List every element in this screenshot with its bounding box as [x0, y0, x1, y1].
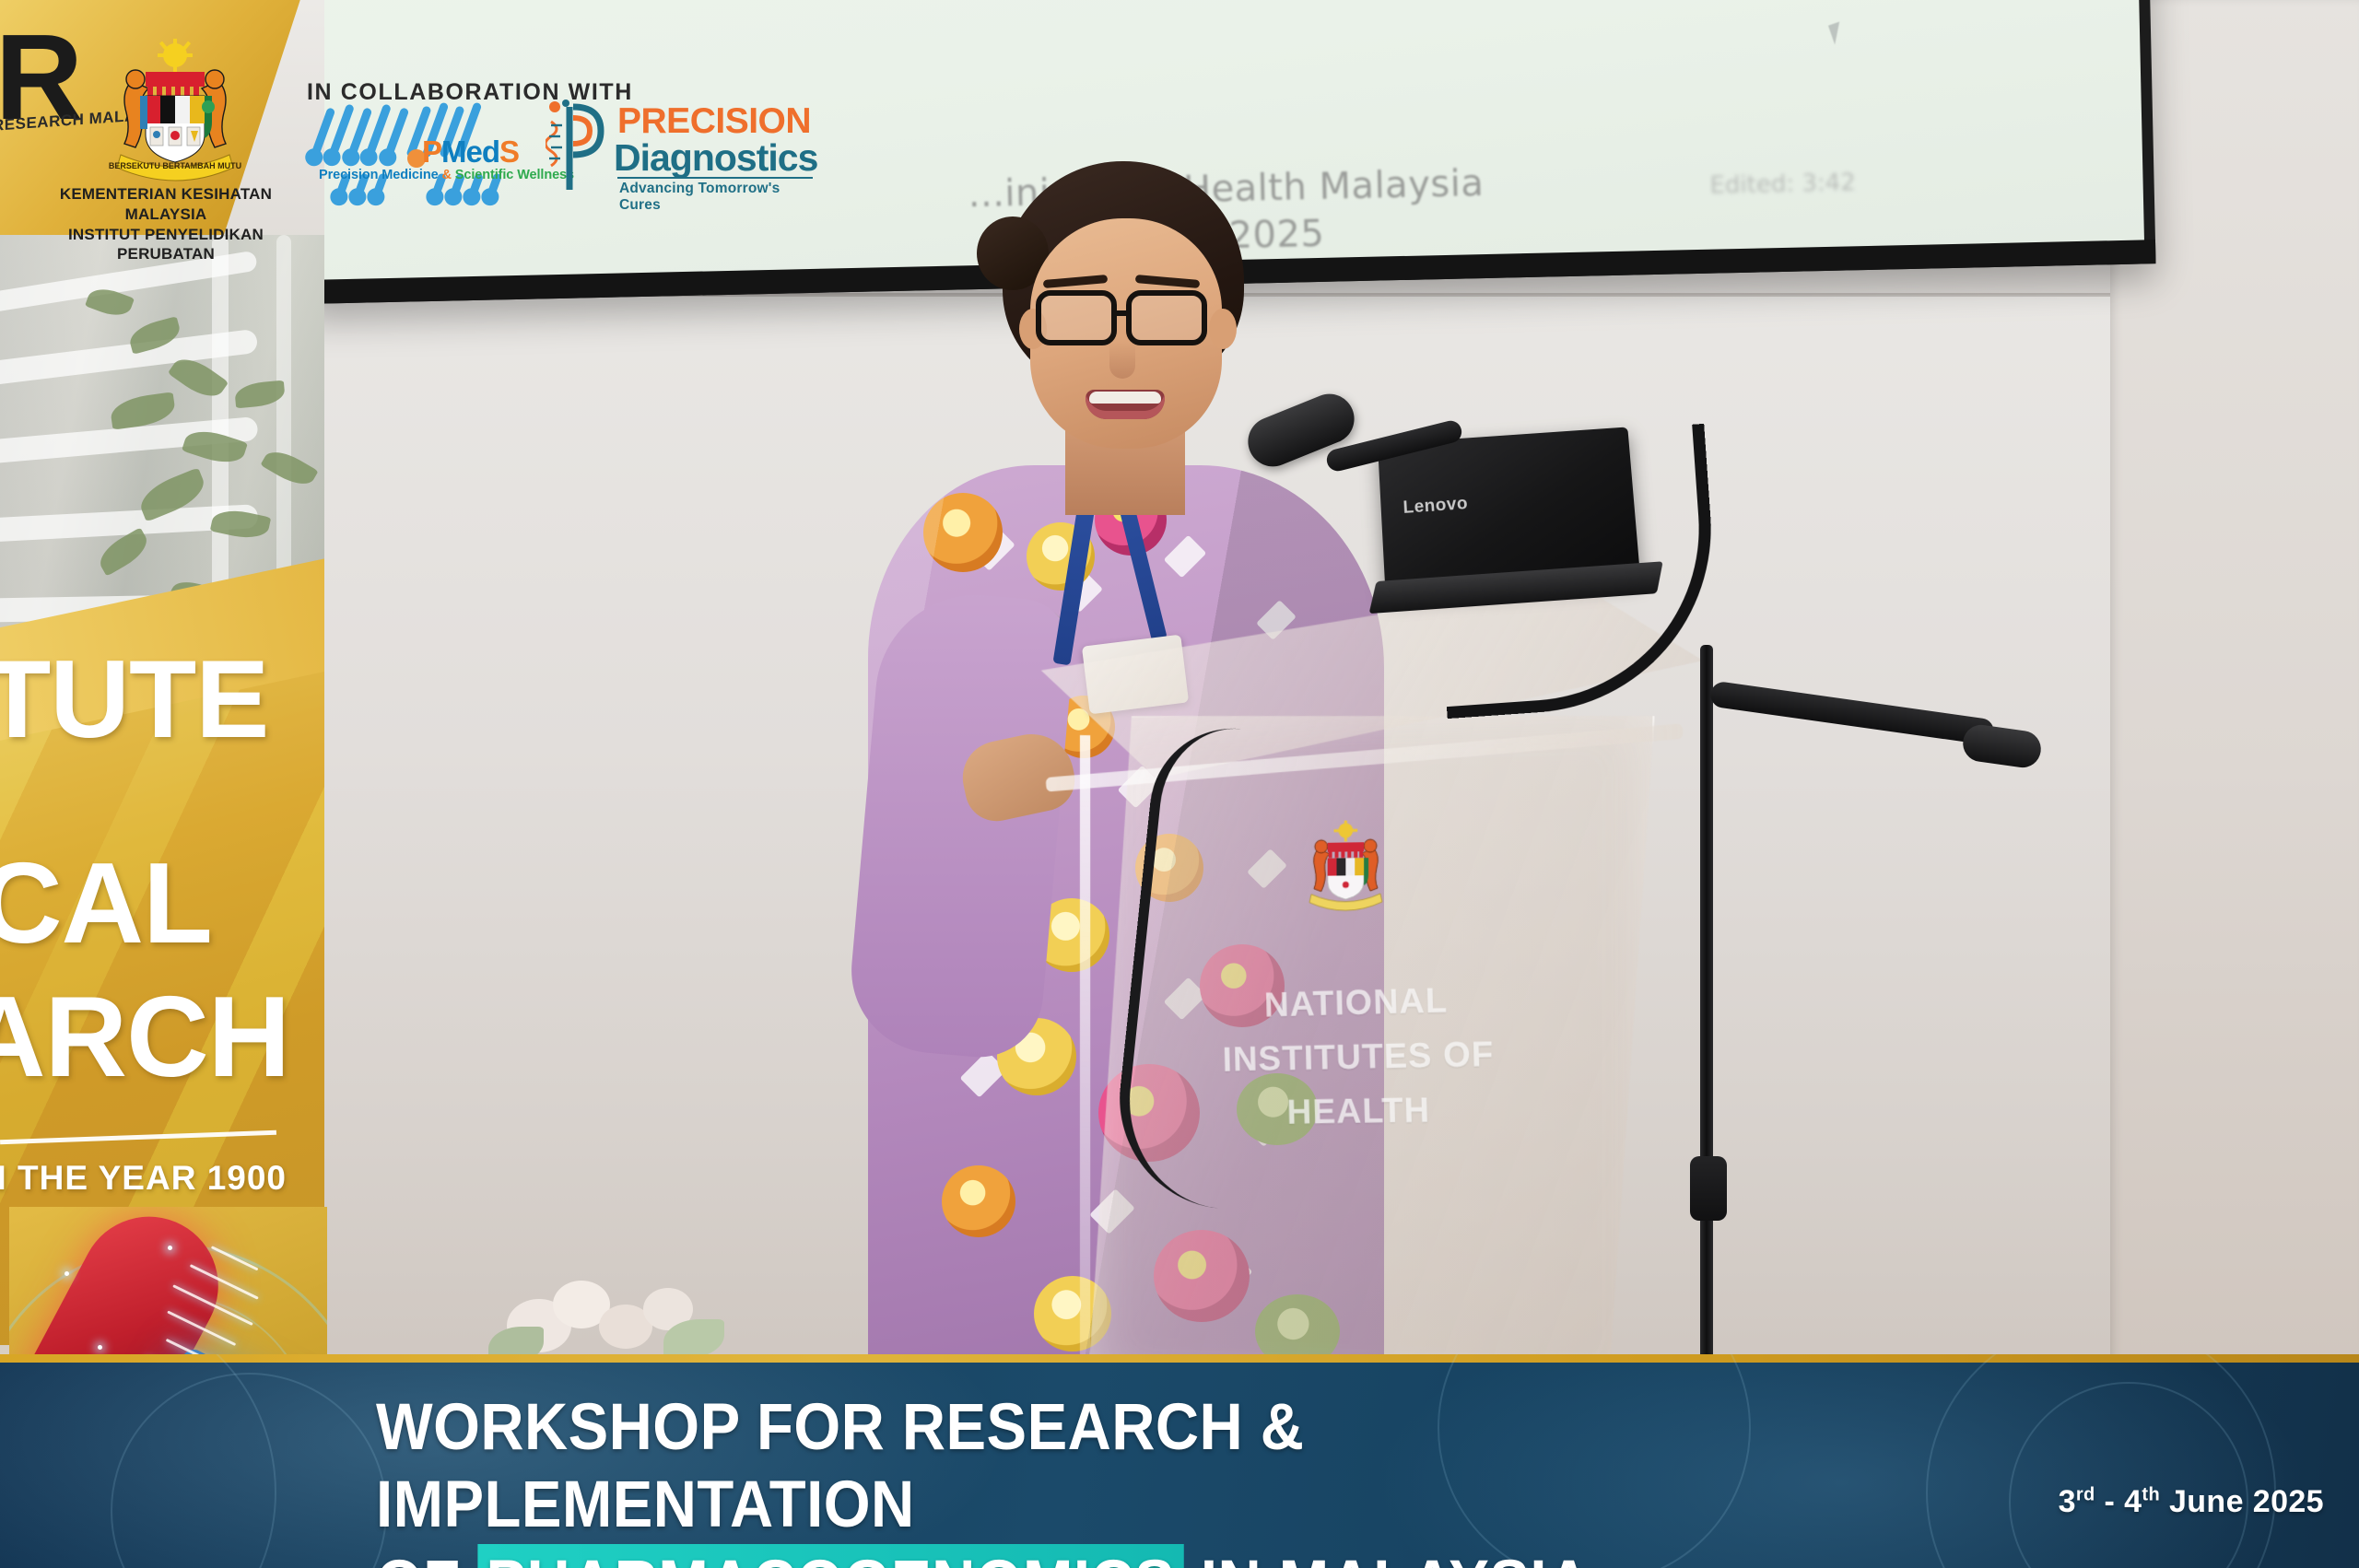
- podium-edge-highlight: [1080, 735, 1090, 1398]
- event-date-rest: June 2025: [2160, 1484, 2324, 1519]
- precision-diagnostics-divider: [617, 177, 813, 179]
- svg-text:BERSEKUTU BERTAMBAH MUTU: BERSEKUTU BERTAMBAH MUTU: [109, 161, 241, 170]
- precision-diagnostics-line2: Diagnostics: [614, 136, 817, 180]
- ministry-caption-line1: KEMENTERIAN KESIHATAN MALAYSIA: [18, 184, 313, 225]
- pmeds-letters-med: Med: [441, 135, 499, 169]
- precision-diagnostics-logo: PRECISION Diagnostics Advancing Tomorrow…: [546, 92, 822, 203]
- event-title-line2: OF PHARMACOGENOMICS IN MALAYSIA: [376, 1544, 1817, 1568]
- pmeds-letter-s: S: [499, 135, 519, 169]
- mic-stand-icon: [1700, 645, 1713, 1391]
- pmeds-tagline-b: &: [441, 168, 454, 182]
- mouse-pointer-icon: [1828, 19, 1854, 45]
- event-date-day1-suffix: rd: [2076, 1485, 2095, 1505]
- event-date-day2-suffix: th: [2142, 1485, 2160, 1505]
- event-date-day1: 3: [2059, 1484, 2076, 1519]
- event-title-banner: WORKSHOP FOR RESEARCH & IMPLEMENTATION O…: [0, 1354, 2359, 1568]
- event-title-highlight: PHARMACOGENOMICS: [477, 1544, 1183, 1568]
- banner-word-medical: CAL: [0, 838, 212, 969]
- event-title: WORKSHOP FOR RESEARCH & IMPLEMENTATION O…: [376, 1389, 1817, 1568]
- event-photo-stage: ...inistry of Health Malaysia 3-06-2025 …: [0, 0, 2359, 1568]
- malaysia-coat-of-arms-icon: BERSEKUTU BERTAMBAH MUTU: [88, 37, 263, 193]
- event-title-line1: WORKSHOP FOR RESEARCH & IMPLEMENTATION: [376, 1389, 1817, 1544]
- banner-established-year: N THE YEAR 1900: [0, 1159, 287, 1198]
- event-title-line2-pre: OF: [376, 1548, 477, 1568]
- ministry-caption: KEMENTERIAN KESIHATAN MALAYSIA INSTITUT …: [18, 184, 313, 264]
- event-title-line2-post: IN MALAYSIA: [1183, 1548, 1590, 1568]
- speaker-teeth: [1089, 392, 1161, 404]
- event-date-day2: 4: [2124, 1484, 2142, 1519]
- eyeglasses-bridge: [1117, 310, 1130, 316]
- pmeds-letter-p: P: [422, 135, 441, 169]
- eyeglasses-lens-left: [1036, 290, 1117, 345]
- speaker-nose: [1109, 342, 1135, 379]
- eyeglasses-lens-right: [1126, 290, 1207, 345]
- slide-ghost-text: Edited: 3:42: [1709, 169, 1856, 199]
- speaker-ear-right: [1209, 309, 1237, 349]
- event-date-separator: -: [2095, 1484, 2124, 1519]
- pmeds-wordmark: PMedS: [422, 135, 519, 170]
- pmeds-tagline-a: Precision Medicine: [319, 168, 441, 182]
- pmeds-tagline: Precision Medicine & Scientific Wellness: [319, 168, 574, 182]
- mic-stand-clamp: [1690, 1156, 1727, 1221]
- banner-word-institute: TUTE: [0, 636, 268, 763]
- event-date: 3rd - 4th June 2025: [2059, 1484, 2324, 1520]
- pmeds-logo: PMedS Precision Medicine & Scientific We…: [313, 101, 553, 203]
- ministry-caption-line2: INSTITUT PENYELIDIKAN PERUBATAN: [18, 225, 313, 265]
- dna-p-monogram-icon: [546, 98, 612, 193]
- precision-diagnostics-tagline: Advancing Tomorrow's Cures: [619, 181, 822, 214]
- banner-word-research: ARCH: [0, 972, 289, 1103]
